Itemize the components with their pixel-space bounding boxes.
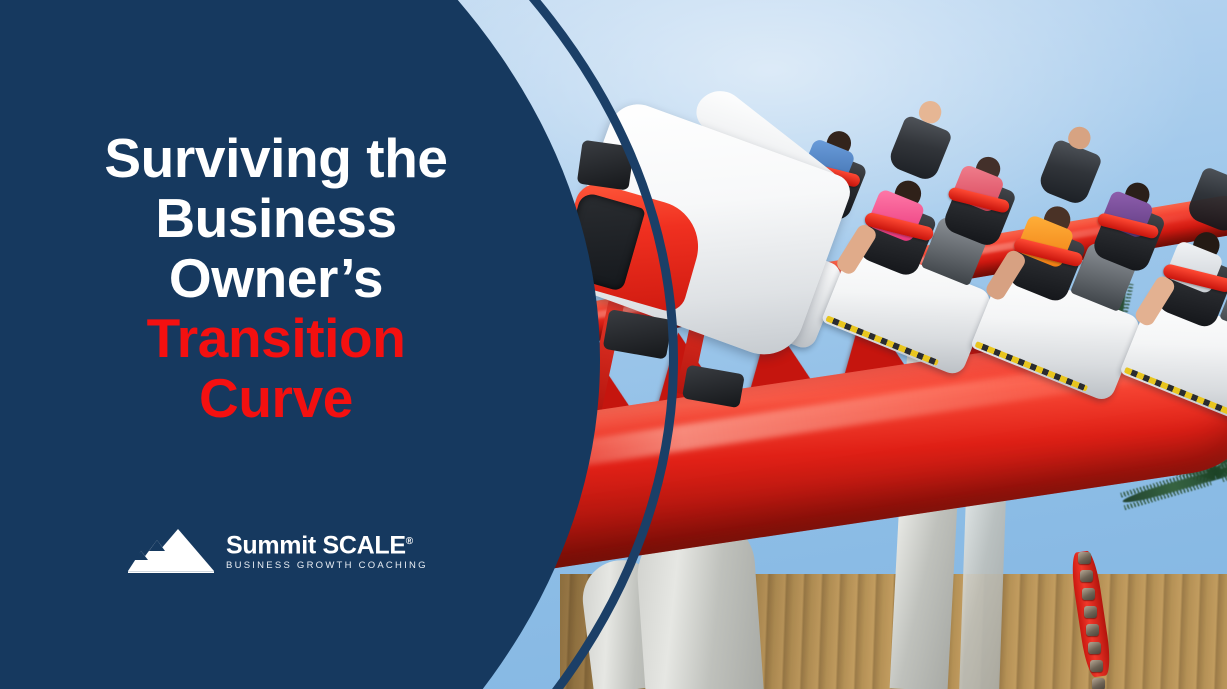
logo-brand-name: Summit SCALE® — [226, 528, 428, 559]
flange-bolt — [1086, 624, 1099, 636]
logo-wordmark: Summit SCALE® BUSINESS GROWTH COACHING — [226, 528, 428, 573]
headline-line-3: Owner’s — [36, 248, 516, 308]
registered-trademark-icon: ® — [406, 536, 413, 547]
logo-tagline: BUSINESS GROWTH COACHING — [226, 559, 428, 572]
page-title: Surviving the Business Owner’s Transitio… — [36, 128, 516, 428]
logo-brand-name-text: Summit SCALE — [226, 531, 406, 559]
flange-bolt — [1084, 606, 1097, 618]
headline-line-5-accent: Curve — [36, 368, 516, 428]
coaster-seat — [1185, 166, 1227, 235]
flange-bolt — [1090, 660, 1103, 672]
summit-mountain-peaks-icon — [128, 527, 214, 573]
headline-line-2: Business — [36, 188, 516, 248]
flange-bolt — [1082, 588, 1095, 600]
flange-bolt — [1092, 678, 1105, 689]
brand-logo: Summit SCALE® BUSINESS GROWTH COACHING — [128, 527, 428, 573]
slide-canvas: Surviving the Business Owner’s Transitio… — [0, 0, 1227, 689]
headline-line-4-accent: Transition — [36, 308, 516, 368]
flange-bolt — [1088, 642, 1101, 654]
headline-line-1: Surviving the — [36, 128, 516, 188]
coaster-seat — [1036, 138, 1103, 207]
